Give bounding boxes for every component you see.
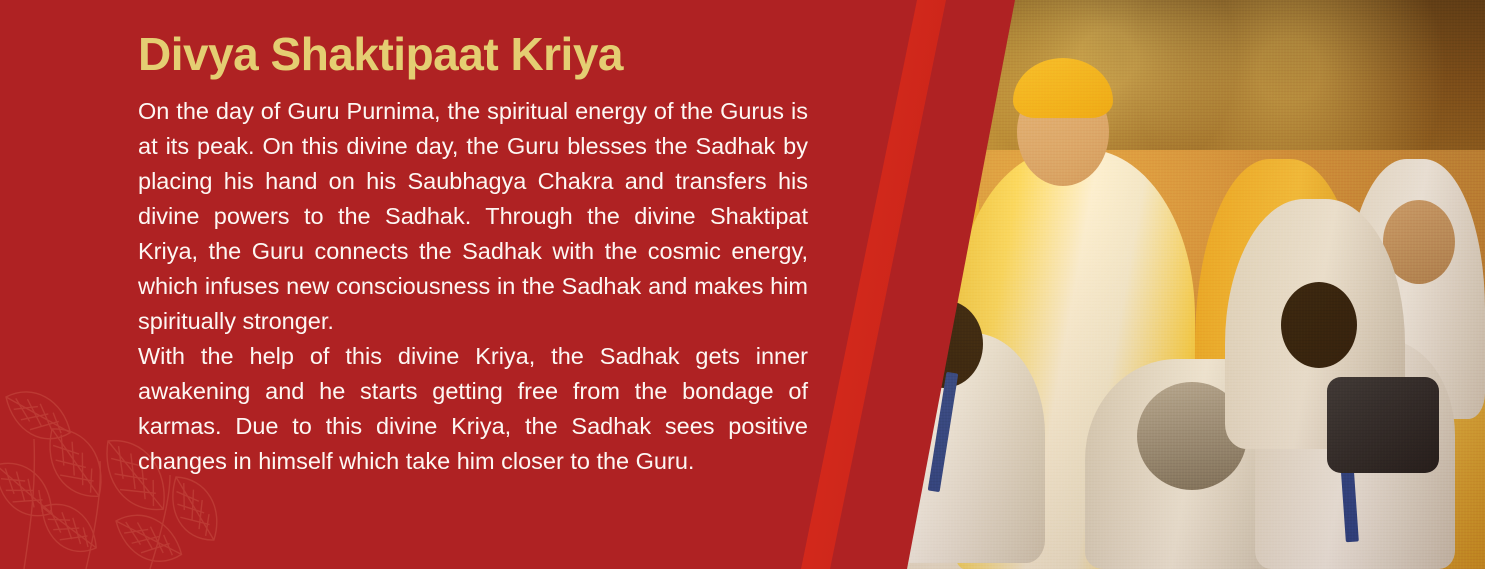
devotee-head-right xyxy=(1281,282,1357,368)
attendant-head-2 xyxy=(895,196,957,268)
text-column: Divya Shaktipaat Kriya On the day of Gur… xyxy=(138,30,808,479)
paragraph-1: On the day of Guru Purnima, the spiritua… xyxy=(138,94,808,339)
backpack xyxy=(1327,377,1439,473)
page-title: Divya Shaktipaat Kriya xyxy=(138,30,808,80)
devotee-head-left xyxy=(905,300,983,388)
paragraph-2: With the help of this divine Kriya, the … xyxy=(138,339,808,479)
description-block: On the day of Guru Purnima, the spiritua… xyxy=(138,94,808,479)
divya-shaktipaat-kriya-banner: Divya Shaktipaat Kriya On the day of Gur… xyxy=(0,0,1485,569)
